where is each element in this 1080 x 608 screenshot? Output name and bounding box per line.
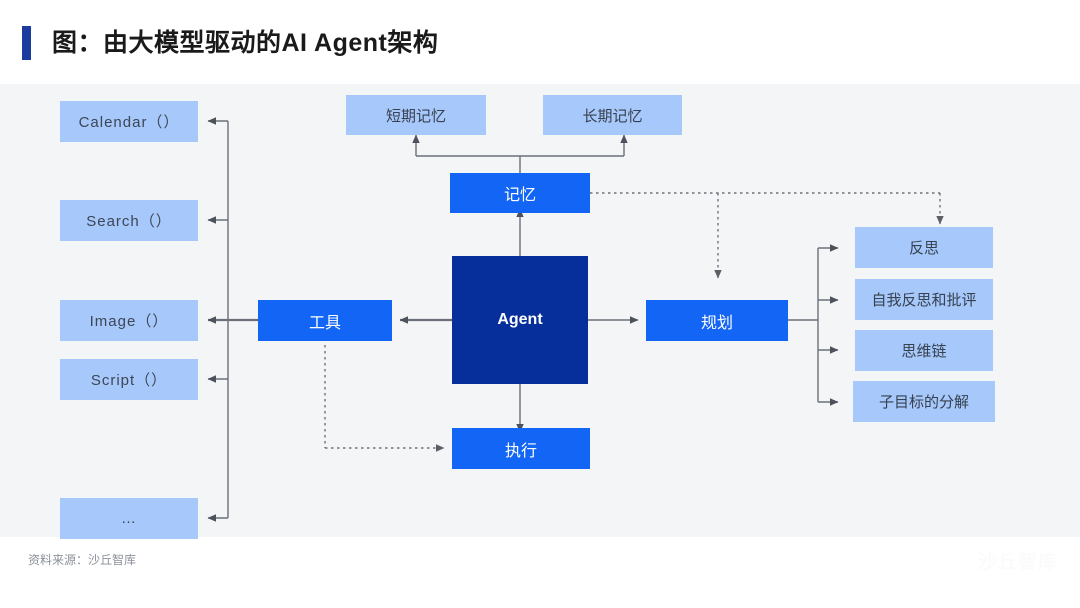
tool-box-4[interactable]: …	[60, 498, 198, 539]
planning-label: 反思	[909, 237, 939, 258]
slide-canvas: 图：由大模型驱动的AI Agent架构	[0, 0, 1080, 608]
tool-label: Search（）	[86, 210, 172, 231]
tool-box-1[interactable]: Search（）	[60, 200, 198, 241]
node-planning[interactable]: 规划	[646, 300, 788, 341]
node-memory[interactable]: 记忆	[450, 173, 590, 213]
tool-label: Script（）	[91, 369, 167, 390]
tool-box-3[interactable]: Script（）	[60, 359, 198, 400]
node-long-term-memory[interactable]: 长期记忆	[543, 95, 682, 135]
footer-bar: 资料来源：沙丘智库 沙丘智库	[0, 537, 1080, 608]
tool-label: …	[121, 510, 137, 527]
node-agent[interactable]: Agent	[452, 256, 588, 384]
planning-box-3[interactable]: 子目标的分解	[853, 381, 995, 422]
planning-box-2[interactable]: 思维链	[855, 330, 993, 371]
planning-label: 自我反思和批评	[871, 289, 976, 310]
tool-label: Calendar（）	[79, 111, 180, 132]
node-label: 工具	[309, 309, 341, 333]
planning-label: 子目标的分解	[879, 391, 969, 412]
diagram-canvas: 短期记忆 长期记忆 记忆 Calendar（） Search（） Image（）…	[0, 84, 1080, 537]
page-title: 图：由大模型驱动的AI Agent架构	[52, 26, 438, 60]
node-label: 记忆	[504, 181, 536, 205]
planning-box-0[interactable]: 反思	[855, 227, 993, 268]
node-label: 执行	[505, 437, 537, 461]
node-label: Agent	[497, 311, 542, 329]
tool-box-0[interactable]: Calendar（）	[60, 101, 198, 142]
node-short-term-memory[interactable]: 短期记忆	[346, 95, 486, 135]
watermark-label: 沙丘智库	[978, 547, 1058, 574]
planning-box-1[interactable]: 自我反思和批评	[855, 279, 993, 320]
node-label: 长期记忆	[582, 105, 642, 126]
planning-label: 思维链	[901, 340, 946, 361]
node-action[interactable]: 执行	[452, 428, 590, 469]
tool-box-2[interactable]: Image（）	[60, 300, 198, 341]
node-tools[interactable]: 工具	[258, 300, 392, 341]
title-accent-bar	[22, 26, 31, 60]
node-label: 短期记忆	[386, 105, 446, 126]
title-bar: 图：由大模型驱动的AI Agent架构	[0, 0, 1080, 84]
source-label: 资料来源：沙丘智库	[28, 551, 136, 568]
tool-label: Image（）	[90, 310, 169, 331]
node-label: 规划	[701, 309, 733, 333]
